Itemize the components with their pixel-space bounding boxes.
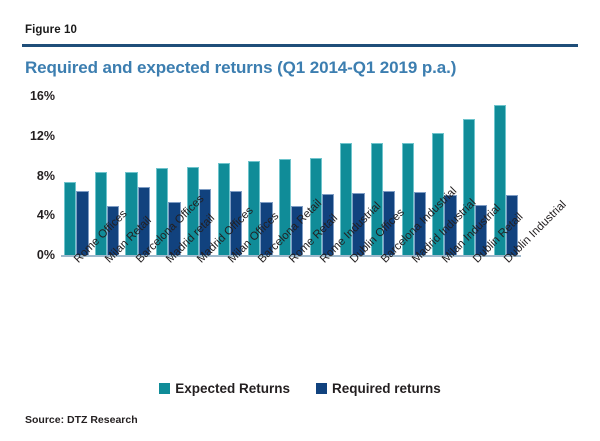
y-axis-tick-label: 4%: [37, 208, 55, 222]
legend-swatch-expected: [159, 383, 170, 394]
bar-group: [61, 96, 92, 255]
source-note: Source: DTZ Research: [25, 414, 138, 426]
legend-item[interactable]: Expected Returns: [159, 381, 290, 396]
chart-legend: Expected ReturnsRequired returns: [0, 381, 600, 396]
legend-swatch-required: [316, 383, 327, 394]
y-axis-tick-label: 8%: [37, 169, 55, 183]
y-axis-tick-labels: 0%4%8%12%16%: [0, 0, 55, 441]
chart-title: Required and expected returns (Q1 2014-Q…: [25, 58, 456, 78]
legend-item[interactable]: Required returns: [316, 381, 441, 396]
legend-label: Expected Returns: [175, 381, 290, 396]
y-axis-tick-label: 16%: [30, 89, 55, 103]
figure-container: Figure 10 Required and expected returns …: [0, 0, 600, 441]
bar-expected: [64, 182, 76, 255]
legend-label: Required returns: [332, 381, 441, 396]
y-axis-tick-label: 0%: [37, 248, 55, 262]
y-axis-tick-label: 12%: [30, 129, 55, 143]
header-divider: [22, 44, 578, 47]
